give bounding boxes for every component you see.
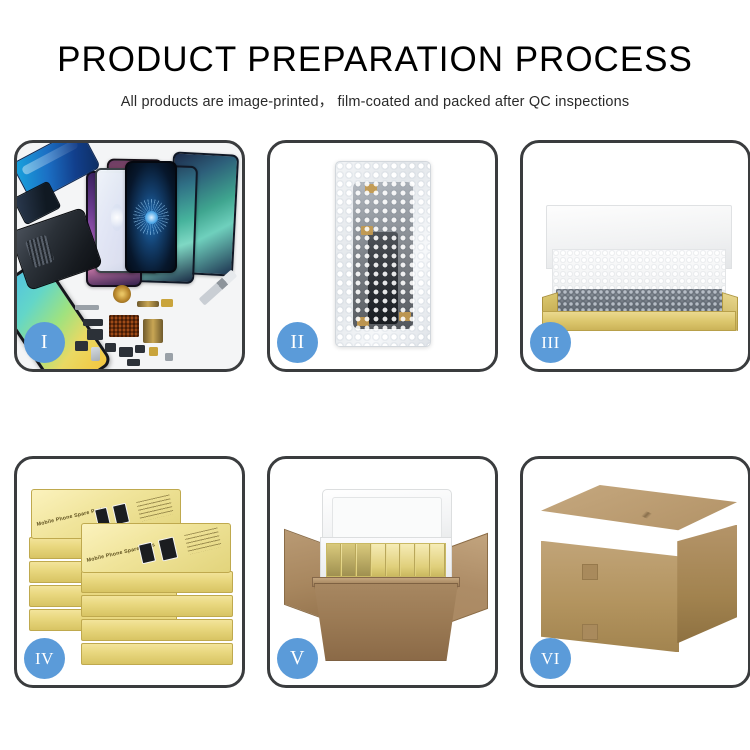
top-box-lid-front: Mobile Phone Spare Parts [81, 523, 231, 573]
packed-box-slot-5 [387, 544, 401, 576]
label-spec-lines-back [136, 494, 174, 521]
phone-display-1-icon [125, 161, 177, 273]
small-bracket-icon [105, 343, 116, 352]
stacked-box-front-1 [81, 571, 233, 593]
vibrator-motor-icon [75, 341, 88, 351]
label-spec-lines-front [184, 527, 222, 554]
stacked-box-front-4 [81, 643, 233, 665]
process-step-2[interactable]: II [267, 140, 498, 372]
antenna-strip-icon [83, 319, 103, 326]
open-carton-icon [284, 487, 488, 667]
header: PRODUCT PREPARATION PROCESS All products… [0, 0, 750, 111]
part-core-icon [368, 232, 398, 323]
bubble-wrap-bag-icon [335, 161, 431, 347]
process-step-6[interactable]: VI [520, 456, 750, 688]
tape-bottom-right-icon [399, 312, 411, 321]
packed-box-slot-7 [416, 544, 430, 576]
speaker-coil-icon [113, 285, 131, 303]
packed-box-slot-1 [327, 544, 341, 576]
process-step-4[interactable]: Mobile Phone Spare Parts Mobile Phone Sp… [14, 456, 245, 688]
product-preparation-infographic: PRODUCT PREPARATION PROCESS All products… [0, 0, 750, 750]
camera-module-icon [87, 329, 103, 340]
logic-board-icon [109, 315, 139, 337]
page-title: PRODUCT PREPARATION PROCESS [0, 42, 750, 79]
label-product-image-back-2 [112, 503, 130, 526]
earpiece-icon [119, 347, 133, 357]
stacked-box-front-2 [81, 595, 233, 617]
box-front-panel-icon [542, 311, 736, 331]
step-3-badge: III [530, 322, 571, 363]
metal-bracket-icon [75, 305, 99, 310]
battery-cell-icon [91, 347, 100, 361]
carton-body-icon [314, 583, 458, 661]
label-product-image-front-2 [158, 536, 179, 561]
gold-contact-icon [161, 299, 173, 307]
step-5-badge: V [277, 638, 318, 679]
packed-box-slot-3 [357, 544, 371, 576]
carton-hand-hole-lower-icon [582, 624, 598, 640]
sim-tray-icon [149, 347, 158, 356]
screw-set-icon [165, 353, 173, 361]
process-step-grid: I II [14, 140, 736, 688]
packed-box-slot-6 [401, 544, 415, 576]
open-kraft-box-icon [538, 203, 740, 331]
flex-cable-2-icon [143, 319, 163, 343]
wrapped-phone-part-icon [353, 182, 413, 329]
packed-box-slot-4 [372, 544, 386, 576]
step-4-badge: IV [24, 638, 65, 679]
step-2-badge: II [277, 322, 318, 363]
page-subtitle: All products are image-printed， film-coa… [0, 90, 750, 111]
screw-plate-icon [135, 345, 145, 353]
shield-plate-icon [127, 359, 140, 366]
step-1-badge: I [24, 322, 65, 363]
step-6-badge: VI [530, 638, 571, 679]
tape-mid-icon [361, 226, 373, 235]
carton-hand-hole-upper-icon [582, 564, 598, 580]
tape-bottom-left-icon [357, 317, 369, 326]
packed-box-slot-8 [431, 544, 445, 576]
stacked-box-front-3 [81, 619, 233, 641]
tape-top-icon [365, 184, 377, 193]
process-step-1[interactable]: I [14, 140, 245, 372]
packed-boxes-row-icon [326, 543, 446, 577]
packed-box-slot-2 [342, 544, 356, 576]
process-step-3[interactable]: III [520, 140, 750, 372]
flex-cable-1-icon [137, 301, 159, 307]
process-step-5[interactable]: V [267, 456, 498, 688]
carton-left-face-icon [541, 541, 679, 653]
spare-components-group [75, 285, 195, 369]
sealed-carton-icon [541, 485, 737, 665]
carton-right-face-icon [677, 525, 737, 644]
